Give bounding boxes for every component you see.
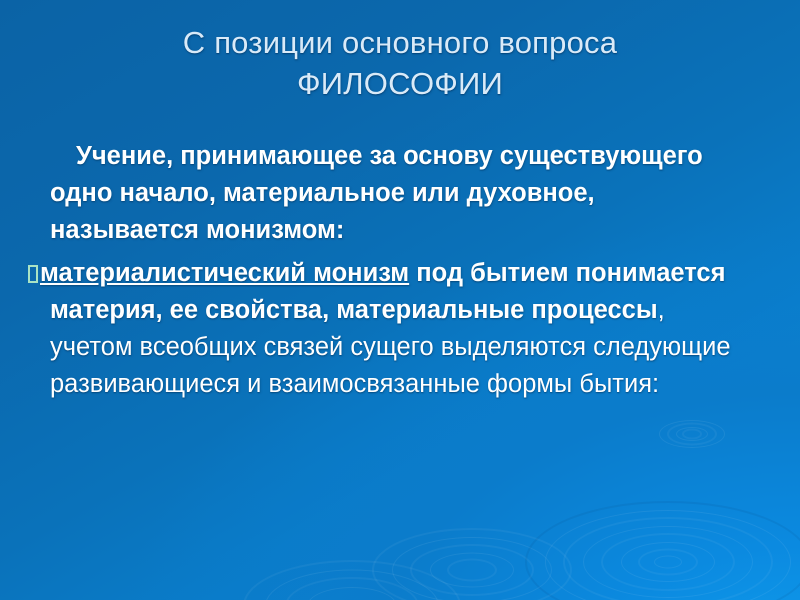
slide-title-line-1: С позиции основного вопроса	[0, 22, 800, 63]
body-paragraph-intro: Учение, принимающее за основу существующ…	[28, 138, 744, 249]
slide-title: С позиции основного вопроса ФИЛОСОФИИ	[0, 22, 800, 104]
slide-title-line-2: ФИЛОСОФИИ	[0, 63, 800, 104]
bullet-emphasis-underlined: материалистический монизм	[40, 259, 409, 287]
presentation-slide: С позиции основного вопроса ФИЛОСОФИИ Уч…	[0, 0, 800, 600]
box-bullet-icon	[28, 265, 38, 283]
body-paragraph-bullet: материалистический монизм под бытием пон…	[28, 255, 744, 403]
slide-body: Учение, принимающее за основу существующ…	[28, 138, 744, 403]
